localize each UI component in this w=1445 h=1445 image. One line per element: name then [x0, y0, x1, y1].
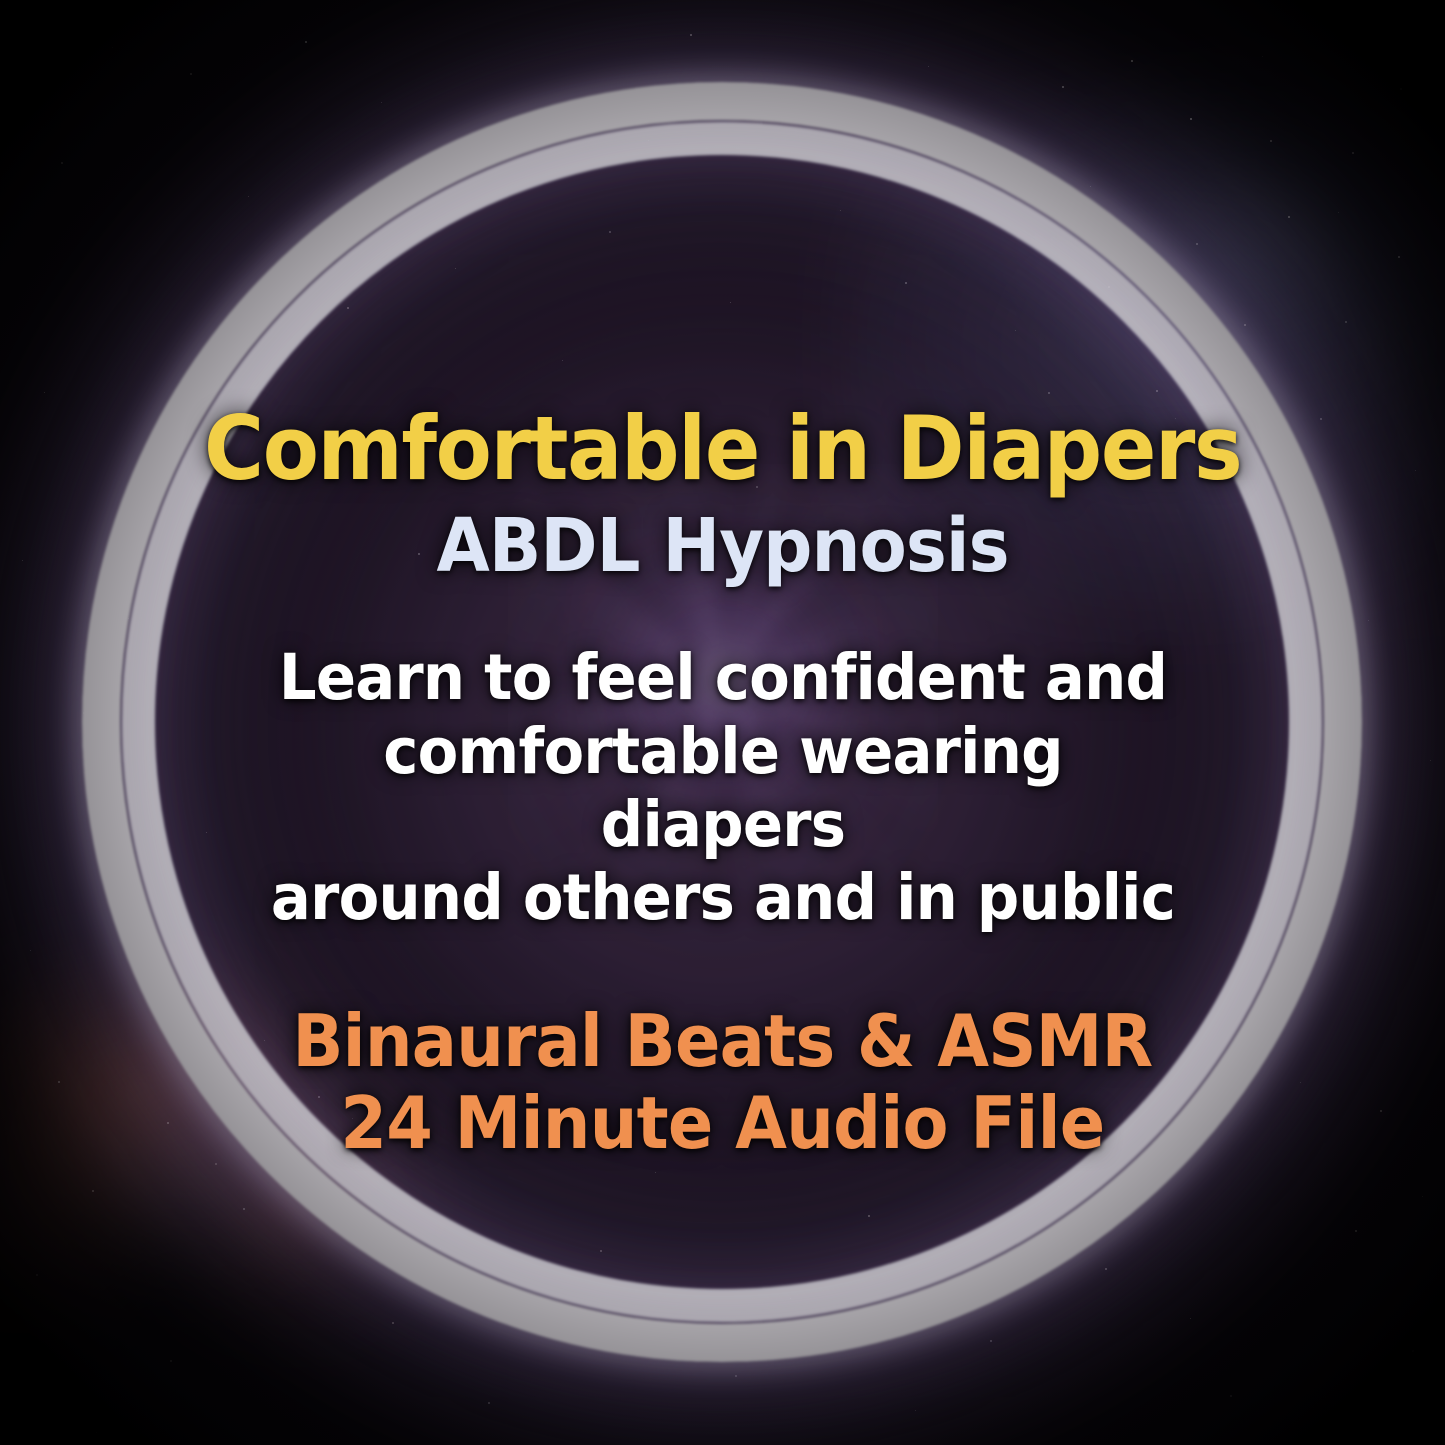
description-line-3: around others and in public — [262, 861, 1183, 934]
text-content-stack: Comfortable in Diapers ABDL Hypnosis Lea… — [0, 0, 1445, 1445]
description-line-2: comfortable wearing diapers — [262, 715, 1183, 861]
format-info-block: Binaural Beats & ASMR 24 Minute Audio Fi… — [292, 1000, 1152, 1164]
format-line-2: 24 Minute Audio File — [292, 1082, 1152, 1164]
description-line-1: Learn to feel confident and — [262, 641, 1183, 714]
page-title: Comfortable in Diapers — [204, 404, 1241, 494]
description-block: Learn to feel confident and comfortable … — [262, 641, 1183, 933]
page-subtitle: ABDL Hypnosis — [436, 508, 1008, 586]
poster-canvas: Comfortable in Diapers ABDL Hypnosis Lea… — [0, 0, 1445, 1445]
format-line-1: Binaural Beats & ASMR — [292, 1000, 1152, 1082]
